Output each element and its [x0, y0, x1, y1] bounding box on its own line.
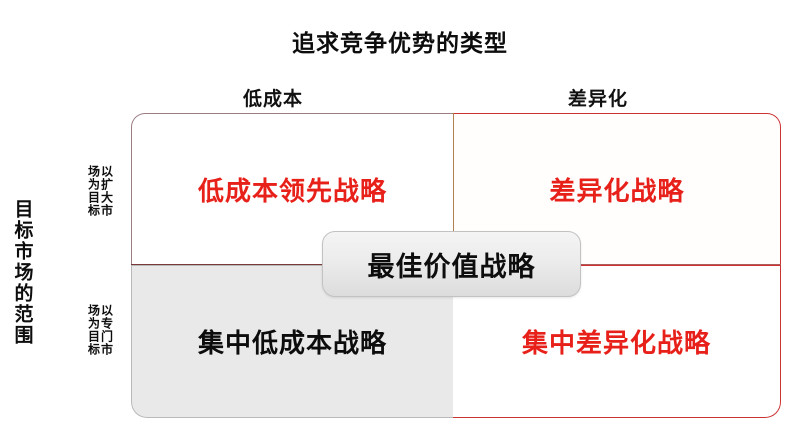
row-label-broad-market-part1: 以扩大市 [101, 165, 113, 217]
y-axis-label: 目标市场的范围 [6, 130, 40, 415]
row-label-niche-market: 以专门市 场为目标 [74, 272, 126, 387]
column-header-differentiation: 差异化 [508, 84, 688, 111]
row-label-niche-market-part2: 场为目标 [88, 304, 100, 356]
best-value-callout-label: 最佳价值战略 [368, 245, 536, 284]
page-title: 追求竞争优势的类型 [0, 24, 800, 58]
strategy-matrix-diagram: 追求竞争优势的类型 低成本 差异化 目标市场的范围 以扩大市 场为目标 以专门市… [0, 0, 800, 447]
row-label-broad-market: 以扩大市 场为目标 [74, 136, 126, 246]
row-label-broad-market-part2: 场为目标 [88, 165, 100, 217]
column-header-low-cost: 低成本 [183, 84, 363, 111]
quadrant-focused-low-cost-label: 集中低成本战略 [198, 323, 387, 360]
quadrant-differentiation-label: 差异化战略 [549, 171, 684, 208]
best-value-callout[interactable]: 最佳价值战略 [322, 231, 581, 297]
row-label-niche-market-part1: 以专门市 [101, 304, 113, 356]
quadrant-focused-differentiation-label: 集中差异化战略 [522, 323, 711, 360]
quadrant-low-cost-leadership-label: 低成本领先战略 [198, 171, 387, 208]
